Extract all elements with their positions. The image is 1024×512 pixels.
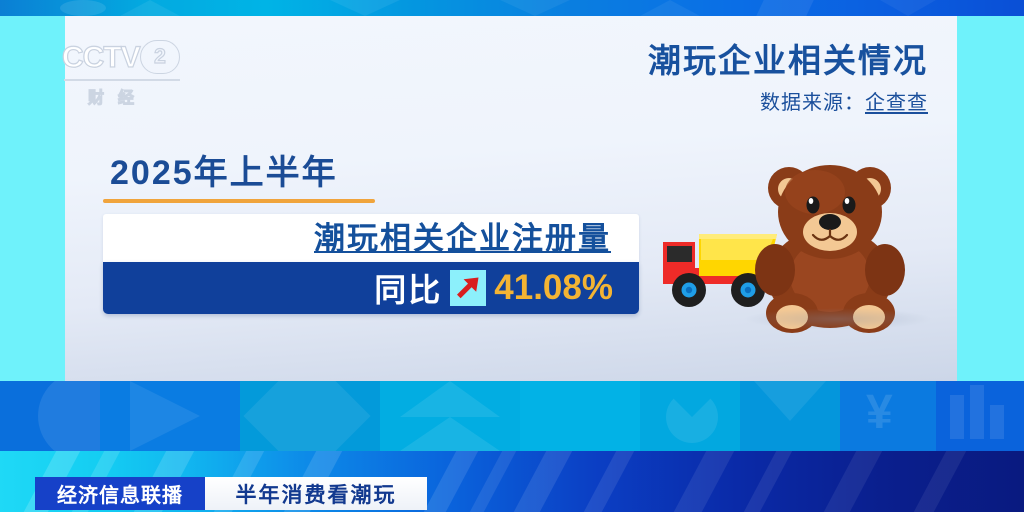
pattern-block — [0, 381, 100, 451]
pattern-triangle — [330, 0, 400, 16]
pattern-block — [100, 381, 240, 451]
compare-label: 同比 — [374, 265, 442, 311]
topic-name: 半年消费看潮玩 — [236, 479, 397, 509]
pattern-block — [380, 381, 520, 451]
program-name: 经济信息联播 — [57, 479, 183, 508]
data-source-line: 数据来源：企查查 — [648, 90, 928, 116]
pattern-block — [240, 381, 380, 451]
top-pattern-strip — [0, 0, 1024, 16]
bar-chart-icon — [970, 385, 984, 439]
pattern-triangle — [754, 381, 826, 421]
program-name-badge: 经济信息联播 — [35, 477, 205, 510]
period-underline — [103, 199, 375, 203]
page-title: 潮玩企业相关情况 — [648, 40, 928, 82]
metric-label-bar: 潮玩相关企业注册量 — [103, 214, 639, 262]
period-label: 2025年上半年 — [110, 152, 338, 194]
pattern-block — [520, 381, 640, 451]
toy-illustration — [655, 150, 935, 345]
diagonal-stripe — [424, 451, 478, 512]
pattern-triangle — [130, 381, 200, 451]
pie-chart-icon — [666, 391, 718, 443]
arrow-up-right-icon — [450, 270, 486, 306]
cctv-channel-number: 2 — [141, 41, 179, 73]
diagonal-stripe — [824, 451, 882, 512]
broadcast-graphic: CCTV 2 财经 潮玩企业相关情况 数据来源：企查查 2025年上半年 潮玩相… — [0, 0, 1024, 512]
pattern-block — [936, 381, 1024, 451]
bar-chart-icon — [950, 395, 964, 439]
diagonal-stripe — [674, 451, 734, 512]
pattern-stripe — [756, 0, 813, 16]
pattern-triangle — [880, 0, 936, 16]
pattern-triangle — [400, 417, 500, 451]
left-cyan-edge — [0, 16, 65, 381]
diagonal-stripe — [470, 451, 516, 512]
pattern-block: ¥ — [840, 381, 936, 451]
cctv2-logo: CCTV 2 财经 — [62, 38, 182, 106]
metric-value: 41.08% — [494, 268, 613, 308]
diagonal-stripe — [914, 451, 966, 512]
yen-symbol-icon: ¥ — [866, 389, 893, 437]
pattern-triangle — [400, 381, 500, 417]
logo-divider — [64, 79, 180, 81]
pattern-block — [740, 381, 840, 451]
metric-label: 潮玩相关企业注册量 — [314, 217, 611, 261]
cctv-channel-number-badge: 2 — [140, 40, 180, 74]
diagonal-stripe — [584, 451, 634, 512]
headline-block: 潮玩企业相关情况 数据来源：企查查 — [648, 40, 928, 116]
bar-chart-icon — [990, 405, 1004, 439]
cctv-channel-name: 财经 — [88, 84, 148, 108]
diagonal-stripe — [514, 451, 572, 512]
pattern-circle — [60, 0, 106, 16]
topic-badge: 半年消费看潮玩 — [205, 477, 427, 510]
pattern-block — [640, 381, 740, 451]
metric-value-bar: 同比 41.08% — [103, 262, 639, 314]
pattern-triangle — [640, 0, 700, 16]
data-source-name: 企查查 — [865, 92, 928, 114]
right-cyan-edge — [957, 16, 1024, 381]
pattern-triangle — [500, 0, 570, 16]
pattern-triangle — [120, 0, 180, 16]
geometric-pattern-band: ¥ — [0, 381, 1024, 451]
data-source-label: 数据来源： — [760, 92, 865, 114]
toy-shadow — [743, 308, 933, 330]
diagonal-stripe — [744, 451, 792, 512]
pattern-diamond — [243, 381, 370, 451]
